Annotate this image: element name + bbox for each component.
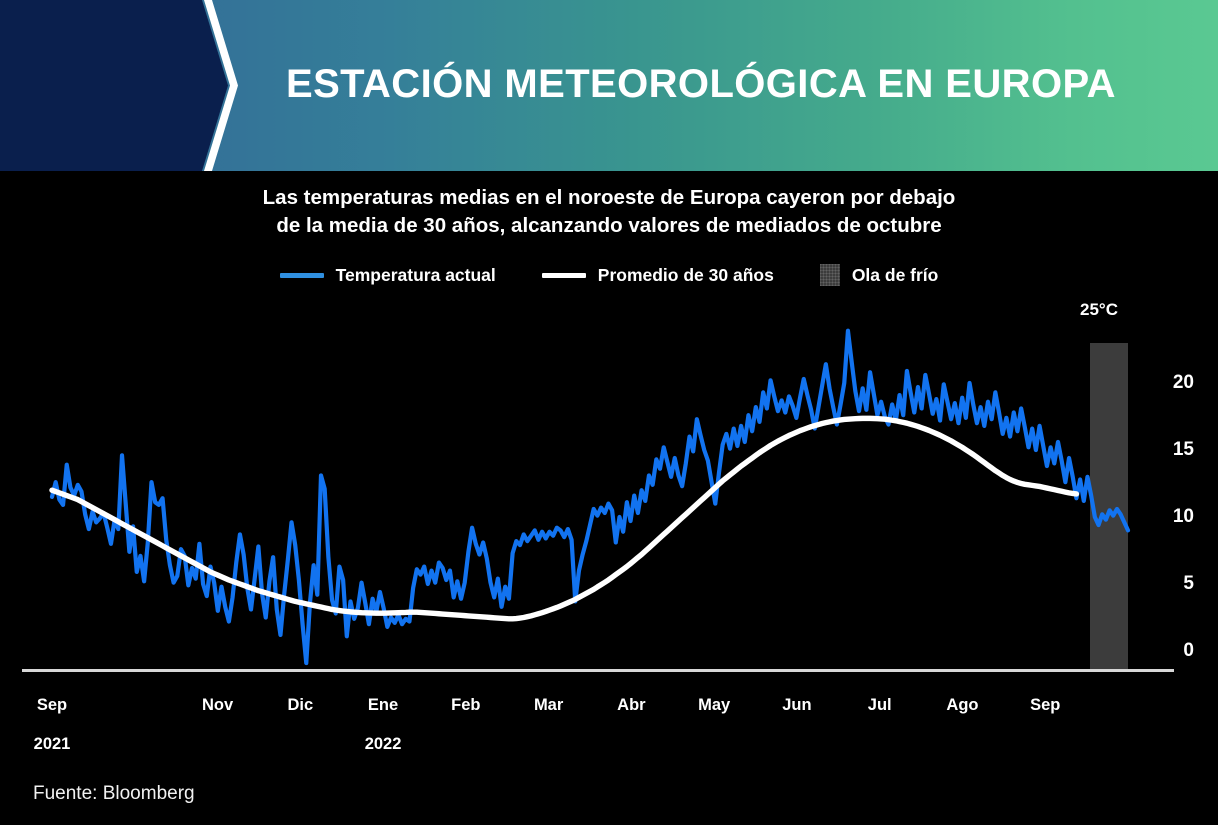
x-axis-tick-ene-3: Ene [368,696,398,715]
subtitle-line-1: Las temperaturas medias en el noroeste d… [0,184,1218,212]
temperature-line-chart [0,290,1218,680]
cold-wave-annotation-label: 25°C [1080,300,1118,320]
y-axis-tick-0: 0 [1183,640,1194,662]
legend-label: Promedio de 30 años [598,265,774,286]
infographic-page: WALLSTREETEASY ESTACIÓN METEOROLÓGICA EN… [0,0,1218,825]
legend-box-swatch [820,264,840,286]
header-banner: WALLSTREETEASY ESTACIÓN METEOROLÓGICA EN… [0,0,1218,171]
x-axis-line [22,669,1174,672]
x-axis-year-2021: 2021 [34,735,71,754]
x-axis-tick-jul-9: Jul [868,696,892,715]
legend-item-0[interactable]: Temperatura actual [280,265,496,286]
x-axis-tick-mar-5: Mar [534,696,563,715]
x-axis-tick-sep-11: Sep [1030,696,1060,715]
x-axis-tick-dic-2: Dic [287,696,313,715]
subtitle: Las temperaturas medias en el noroeste d… [0,184,1218,240]
header-logo-panel [0,0,228,171]
chart-plot-area [0,290,1218,680]
legend-line-swatch [542,273,586,278]
x-axis-tick-feb-4: Feb [451,696,480,715]
legend-item-1[interactable]: Promedio de 30 años [542,265,774,286]
x-axis-tick-abr-6: Abr [617,696,645,715]
actual-temperature-line [52,331,1128,663]
y-axis-tick-15: 15 [1173,439,1194,461]
x-axis-tick-nov-1: Nov [202,696,233,715]
legend-label: Ola de frío [852,265,939,286]
page-title: ESTACIÓN METEOROLÓGICA EN EUROPA [286,62,1116,107]
x-axis-year-labels: 20212022 [0,735,1218,761]
x-axis-year-2022: 2022 [365,735,402,754]
x-axis-tick-sep-0: Sep [37,696,67,715]
y-axis-tick-5: 5 [1183,573,1194,595]
legend-label: Temperatura actual [336,265,496,286]
legend-line-swatch [280,273,324,278]
y-axis-tick-20: 20 [1173,372,1194,394]
x-axis-tick-ago-10: Ago [946,696,978,715]
y-axis-tick-10: 10 [1173,506,1194,528]
subtitle-line-2: de la media de 30 años, alcanzando valor… [0,212,1218,240]
cold-wave-band [1090,343,1128,669]
source-note: Fuente: Bloomberg [33,783,195,805]
x-axis-tick-may-7: May [698,696,730,715]
x-axis-labels: SepNovDicEneFebMarAbrMayJunJulAgoSep [0,696,1218,724]
chart-legend: Temperatura actualPromedio de 30 añosOla… [0,264,1218,286]
x-axis-tick-jun-8: Jun [782,696,811,715]
legend-item-2[interactable]: Ola de frío [820,264,939,286]
